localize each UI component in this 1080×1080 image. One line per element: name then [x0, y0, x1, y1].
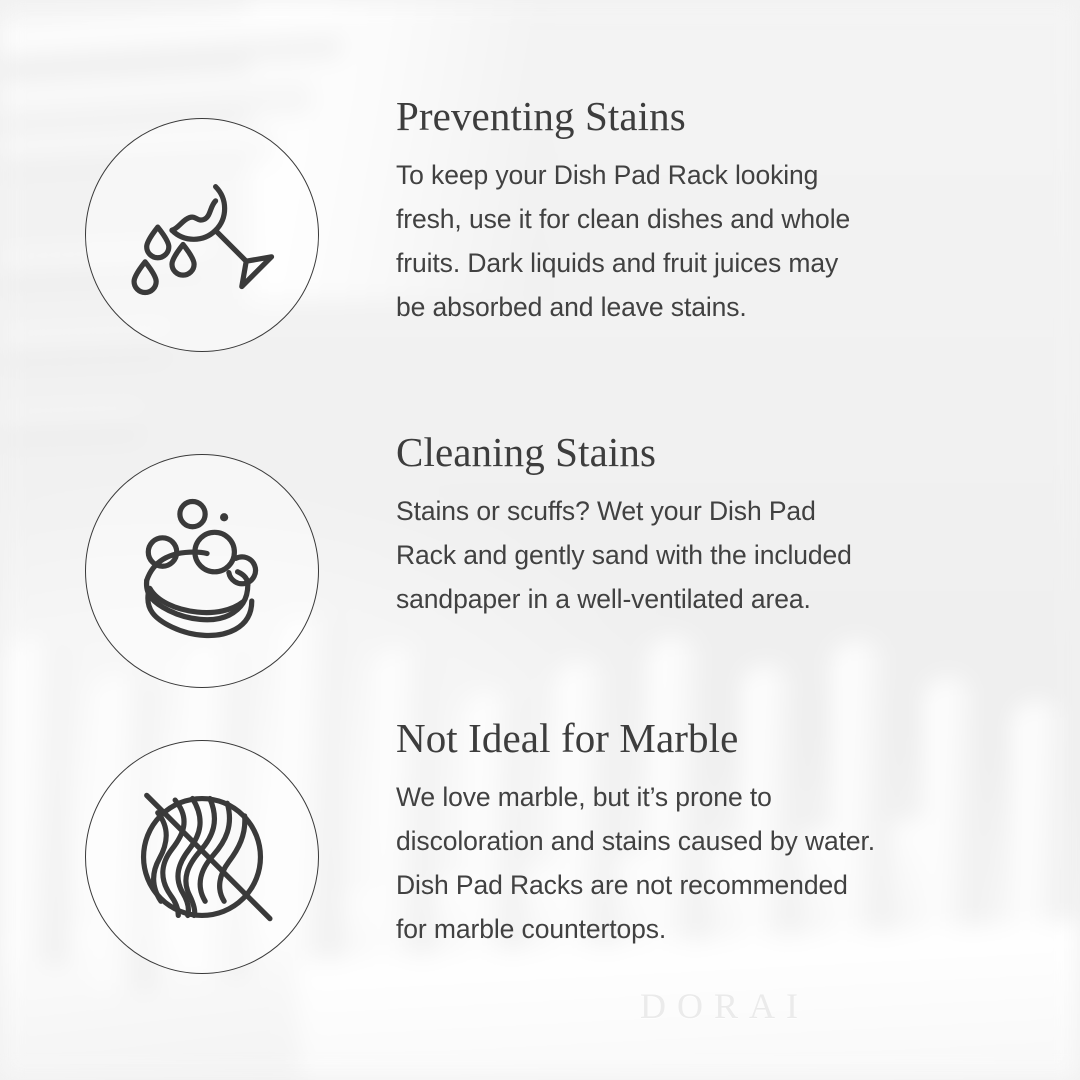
- care-sections: Preventing Stains To keep your Dish Pad …: [0, 0, 1080, 1080]
- body-line: fresh, use it for clean dishes and whole: [396, 197, 996, 241]
- body-line: Rack and gently sand with the included: [396, 533, 996, 577]
- body-line: discoloration and stains caused by water…: [396, 819, 996, 863]
- body-line: fruits. Dark liquids and fruit juices ma…: [396, 241, 996, 285]
- section-title: Not Ideal for Marble: [396, 718, 996, 759]
- product-care-infographic: DORAI: [0, 0, 1080, 1080]
- no-marble-icon: [85, 740, 319, 974]
- section-body: We love marble, but it’s prone to discol…: [396, 775, 996, 951]
- section-body: Stains or scuffs? Wet your Dish Pad Rack…: [396, 489, 996, 621]
- body-line: be absorbed and leave stains.: [396, 285, 996, 329]
- section-body: To keep your Dish Pad Rack looking fresh…: [396, 153, 996, 329]
- body-line: To keep your Dish Pad Rack looking: [396, 153, 996, 197]
- section-title: Preventing Stains: [396, 96, 996, 137]
- soap-bar-bubbles-icon: [85, 454, 319, 688]
- body-line: Stains or scuffs? Wet your Dish Pad: [396, 489, 996, 533]
- section-text-column: Cleaning Stains Stains or scuffs? Wet yo…: [396, 432, 996, 621]
- body-line: We love marble, but it’s prone to: [396, 775, 996, 819]
- body-line: sandpaper in a well-ventilated area.: [396, 577, 996, 621]
- section-title: Cleaning Stains: [396, 432, 996, 473]
- spilling-wine-glass-icon: [85, 118, 319, 352]
- body-line: Dish Pad Racks are not recommended: [396, 863, 996, 907]
- body-line: for marble countertops.: [396, 907, 996, 951]
- section-text-column: Not Ideal for Marble We love marble, but…: [396, 718, 996, 951]
- section-text-column: Preventing Stains To keep your Dish Pad …: [396, 96, 996, 329]
